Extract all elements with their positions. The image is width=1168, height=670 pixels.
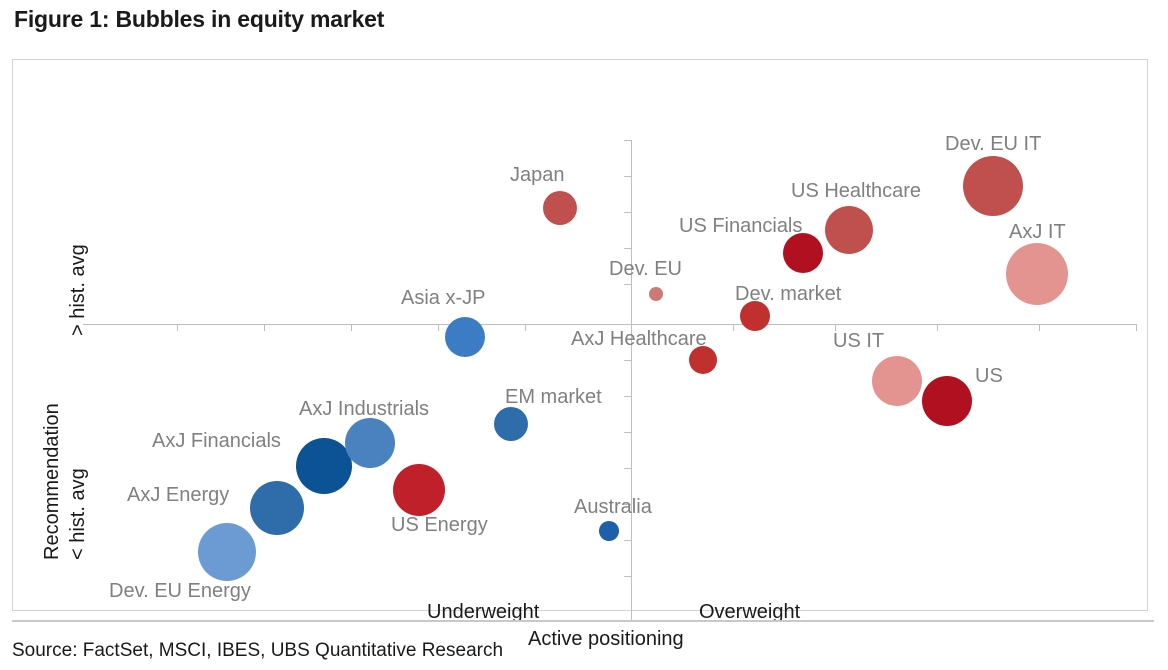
y-axis-tick (624, 540, 631, 541)
bubble-label-us: US (975, 365, 1003, 388)
source-note: Source: FactSet, MSCI, IBES, UBS Quantit… (12, 640, 503, 662)
y-axis-tick (624, 176, 631, 177)
x-axis-tick (1136, 324, 1137, 331)
page-title: Figure 1: Bubbles in equity market (14, 6, 384, 33)
bubble-dev-eu-it[interactable] (963, 156, 1023, 216)
y-axis-tick (624, 248, 631, 249)
x-axis-tick (177, 324, 178, 331)
bubble-asia-x-jp[interactable] (445, 317, 485, 357)
source-divider (12, 620, 1154, 622)
y-axis-tick (624, 284, 631, 285)
figure-container: Figure 1: Bubbles in equity market Dev. … (0, 0, 1168, 670)
y-axis-title-group: Recommendation > hist. avg < hist. avg (41, 160, 85, 580)
y-axis-tick (624, 212, 631, 213)
x-axis-tick (525, 324, 526, 331)
bubble-us-healthcare[interactable] (825, 206, 873, 254)
y-axis-lower-label: < hist. avg (67, 468, 90, 560)
x-axis-tick (733, 324, 734, 331)
bubble-axj-energy[interactable] (250, 481, 304, 535)
x-axis-tick (264, 324, 265, 331)
x-axis-tick (438, 324, 439, 331)
bubble-australia[interactable] (599, 521, 619, 541)
bubble-label-axj-industrials: AxJ Industrials (299, 398, 429, 421)
bubble-label-us-financials: US Financials (679, 215, 802, 238)
y-axis-line (631, 140, 632, 620)
bubble-label-em-market: EM market (505, 386, 602, 409)
x-axis-tick (937, 324, 938, 331)
bubble-dev-eu-energy[interactable] (198, 523, 256, 581)
bubble-label-asia-x-jp: Asia x-JP (401, 287, 485, 310)
y-axis-title: Recommendation (41, 403, 64, 560)
bubble-us[interactable] (922, 376, 972, 426)
bubble-label-dev-eu-it: Dev. EU IT (945, 133, 1041, 156)
chart-plot-frame: Dev. EU EnergyAxJ EnergyAxJ FinancialsAx… (12, 59, 1148, 611)
y-axis-tick (624, 468, 631, 469)
bubble-label-axj-it: AxJ IT (1009, 221, 1066, 244)
bubble-em-market[interactable] (494, 407, 528, 441)
bubble-label-axj-energy: AxJ Energy (127, 484, 229, 507)
bubble-label-dev-eu: Dev. EU (609, 258, 682, 281)
y-axis-tick (624, 576, 631, 577)
bubble-label-japan: Japan (510, 164, 565, 187)
bubble-japan[interactable] (543, 191, 577, 225)
y-axis-tick (624, 324, 631, 325)
bubble-label-us-healthcare: US Healthcare (791, 180, 921, 203)
x-axis-line (83, 324, 1136, 325)
y-axis-tick (624, 396, 631, 397)
x-axis-tick (351, 324, 352, 331)
bubble-dev-eu[interactable] (649, 287, 663, 301)
bubble-axj-financials[interactable] (296, 438, 352, 494)
bubble-label-australia: Australia (574, 496, 652, 519)
bubble-label-dev-eu-energy: Dev. EU Energy (109, 580, 251, 603)
x-axis-title: Active positioning (528, 628, 684, 651)
bubble-label-us-energy: US Energy (391, 514, 488, 537)
bubble-axj-industrials[interactable] (345, 418, 395, 468)
y-axis-upper-label: > hist. avg (67, 244, 90, 336)
bubble-label-axj-healthcare: AxJ Healthcare (571, 328, 707, 351)
y-axis-tick (624, 432, 631, 433)
bubble-label-axj-financials: AxJ Financials (152, 430, 281, 453)
bubble-label-dev-market: Dev. market (735, 283, 841, 306)
y-axis-tick (624, 140, 631, 141)
bubble-axj-it[interactable] (1006, 243, 1068, 305)
bubble-us-it[interactable] (872, 356, 922, 406)
bubble-us-financials[interactable] (783, 233, 823, 273)
y-axis-tick (624, 360, 631, 361)
bubble-label-us-it: US IT (833, 330, 884, 353)
bubble-us-energy[interactable] (393, 464, 445, 516)
x-axis-tick (1039, 324, 1040, 331)
